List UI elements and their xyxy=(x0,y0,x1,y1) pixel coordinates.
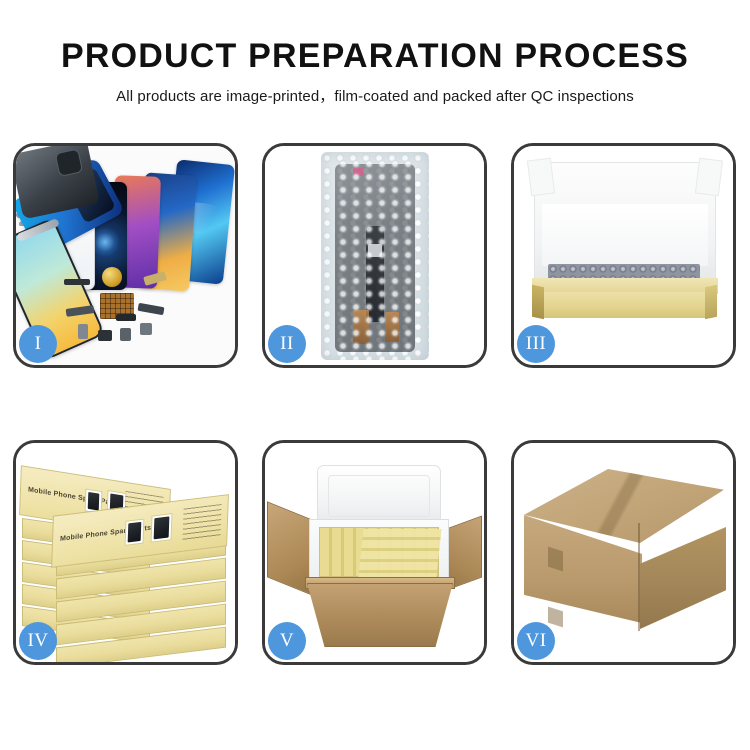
carton-vertical-edge xyxy=(638,523,640,631)
lcd-adhesive-tab-left xyxy=(353,310,369,344)
step-badge-6: VI xyxy=(517,622,555,660)
speaker-component xyxy=(102,267,122,287)
lcd-flex-cable xyxy=(366,226,384,322)
step-badge-3: III xyxy=(517,325,555,363)
packed-retail-boxes-row-2 xyxy=(358,529,441,577)
box-print-window-3 xyxy=(125,518,145,545)
box-print-window-4 xyxy=(151,513,173,543)
process-step-panel-6: VI xyxy=(511,440,736,665)
process-step-panel-5: V xyxy=(262,440,487,665)
process-step-panel-1: I xyxy=(13,143,238,368)
page-title: PRODUCT PREPARATION PROCESS xyxy=(0,36,750,76)
step-badge-1: I xyxy=(19,325,57,363)
step-badge-4: IV xyxy=(19,622,57,660)
page-subtitle: All products are image-printed，film-coat… xyxy=(0,85,750,106)
header: PRODUCT PREPARATION PROCESS All products… xyxy=(0,36,750,106)
sim-tray-component xyxy=(78,324,88,339)
lcd-connector xyxy=(368,244,382,257)
kraft-tray-corner-left xyxy=(532,285,544,320)
process-step-grid: I II xyxy=(13,143,737,678)
step-badge-2: II xyxy=(268,325,306,363)
flex-cable-right xyxy=(138,303,165,315)
white-foam-sheet xyxy=(542,204,708,266)
process-step-panel-3: III xyxy=(511,143,736,368)
step-badge-5: V xyxy=(268,622,306,660)
lcd-adhesive-tab-right xyxy=(385,312,399,342)
process-step-panel-4: Mobile Phone Spare Parts Mobile Phone Sp… xyxy=(13,440,238,665)
box-print-label-back: Mobile Phone Spare Parts xyxy=(28,486,119,507)
box-print-spec-lines-front xyxy=(182,504,221,543)
qc-sticker xyxy=(353,168,363,176)
antenna-strip xyxy=(116,314,136,321)
kraft-tray-corner-right xyxy=(705,285,717,320)
process-step-panel-2: II xyxy=(262,143,487,368)
vibrator-motor xyxy=(140,323,152,335)
carton-body xyxy=(307,583,453,647)
bubble-wrap-bag xyxy=(321,152,429,360)
carton-tape-mark-lower xyxy=(548,607,563,628)
kraft-tray-front xyxy=(536,292,714,318)
camera-module xyxy=(98,330,112,341)
battery-connector xyxy=(120,328,131,341)
product-preparation-infographic: PRODUCT PREPARATION PROCESS All products… xyxy=(0,0,750,750)
earpiece-component xyxy=(64,279,90,285)
carton-side-face xyxy=(640,527,726,629)
foam-box-lid xyxy=(317,465,441,527)
